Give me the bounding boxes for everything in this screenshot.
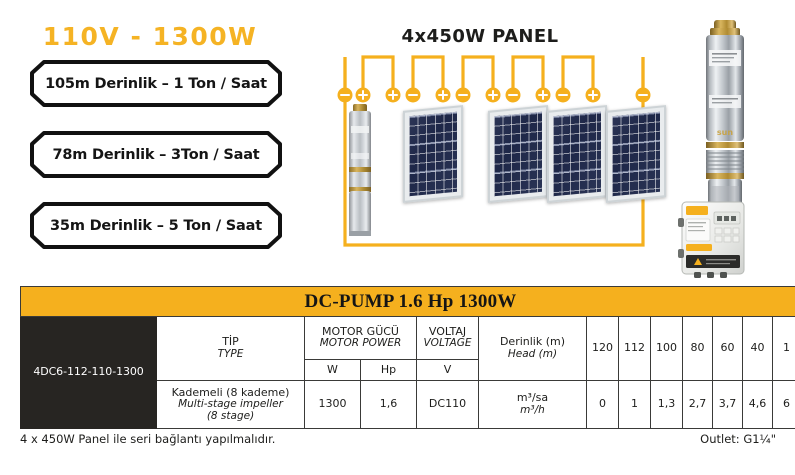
pump-product-photo: sun: [672, 6, 790, 278]
unit-v-header: V: [417, 360, 479, 381]
panel-cells: [494, 112, 542, 197]
model-number-cell: 4DC6-112-110-1300: [21, 317, 157, 429]
flow-value-cell: 1: [619, 381, 651, 429]
spec-badge-35m: 35m Derinlik – 5 Ton / Saat: [30, 202, 282, 249]
type-value-en: Multi-stage impeller: [158, 399, 303, 411]
solar-wiring-diagram: 4x450W PANEL: [300, 0, 670, 275]
flow-value-cell: 0: [587, 381, 619, 429]
spec-badge-label: 105m Derinlik – 1 Ton / Saat: [30, 60, 282, 107]
flow-unit-en: m³/h: [480, 405, 585, 417]
table-title: DC-PUMP 1.6 Hp 1300W: [21, 287, 795, 317]
head-value-cell: 60: [713, 317, 743, 381]
unit-hp-header: Hp: [361, 360, 417, 381]
type-value: Kademeli (8 kademe) Multi-stage impeller…: [157, 381, 305, 429]
head-value-cell: 120: [587, 317, 619, 381]
panel-cells: [612, 112, 660, 197]
pump-controller-box: [678, 202, 744, 278]
panel-cells: [409, 112, 457, 197]
type-header-en: TYPE: [158, 349, 303, 361]
flow-value-cell: 4,6: [743, 381, 773, 429]
flow-value-cell: 1,3: [651, 381, 683, 429]
note-left: 4 x 450W Panel ile seri bağlantı yapılma…: [20, 432, 275, 446]
head-value-cell: 1: [773, 317, 795, 381]
power-hp-value: 1,6: [361, 381, 417, 429]
svg-text:sun: sun: [717, 128, 733, 137]
spec-badge-78m: 78m Derinlik – 3Ton / Saat: [30, 131, 282, 178]
head-value-cell: 40: [743, 317, 773, 381]
voltage-title: 110V - 1300W: [0, 22, 300, 51]
flow-unit-cell: m³/sa m³/h: [479, 381, 587, 429]
spec-badge-label: 78m Derinlik – 3Ton / Saat: [30, 131, 282, 178]
panel-cells: [553, 112, 601, 197]
head-value-cell: 112: [619, 317, 651, 381]
type-value-en2: (8 stage): [158, 411, 303, 423]
table-notes: 4 x 450W Panel ile seri bağlantı yapılma…: [20, 432, 776, 446]
solar-panel-2: [488, 105, 548, 203]
unit-w-header: W: [305, 360, 361, 381]
type-header-tr: TİP: [158, 336, 303, 348]
motor-power-header: MOTOR GÜCÜ MOTOR POWER: [305, 317, 417, 360]
voltage-header-en: VOLTAGE: [418, 338, 477, 350]
head-value-cell: 80: [683, 317, 713, 381]
spec-badge-105m: 105m Derinlik – 1 Ton / Saat: [30, 60, 282, 107]
pump-diagram-icon: [349, 104, 371, 236]
head-value-cell: 100: [651, 317, 683, 381]
flow-value-cell: 3,7: [713, 381, 743, 429]
table-header-row-1: 4DC6-112-110-1300 TİP TYPE MOTOR GÜCÜ MO…: [21, 317, 795, 360]
motor-power-header-en: MOTOR POWER: [306, 338, 415, 350]
head-header: Derinlik (m) Head (m): [479, 317, 587, 381]
voltage-header: VOLTAJ VOLTAGE: [417, 317, 479, 360]
flow-value-cell: 2,7: [683, 381, 713, 429]
voltage-value: DC110: [417, 381, 479, 429]
terminal-group: [338, 88, 651, 103]
spec-badge-label: 35m Derinlik – 5 Ton / Saat: [30, 202, 282, 249]
solar-panel-4: [606, 105, 666, 203]
spec-panel: 110V - 1300W 105m Derinlik – 1 Ton / Saa…: [0, 0, 300, 275]
spec-table-wrapper: DC-PUMP 1.6 Hp 1300W 4DC6-112-110-1300 T…: [20, 286, 776, 429]
solar-panel-1: [403, 105, 463, 203]
table-title-row: DC-PUMP 1.6 Hp 1300W: [21, 287, 795, 317]
solar-panel-3: [547, 105, 607, 203]
head-header-tr: Derinlik (m): [480, 336, 585, 348]
spec-table: DC-PUMP 1.6 Hp 1300W 4DC6-112-110-1300 T…: [20, 286, 795, 429]
head-header-en: Head (m): [480, 349, 585, 361]
power-w-value: 1300: [305, 381, 361, 429]
note-right: Outlet: G1¼": [700, 432, 776, 446]
flow-unit-tr: m³/sa: [480, 392, 585, 404]
type-header: TİP TYPE: [157, 317, 305, 381]
flow-value-cell: 6: [773, 381, 795, 429]
